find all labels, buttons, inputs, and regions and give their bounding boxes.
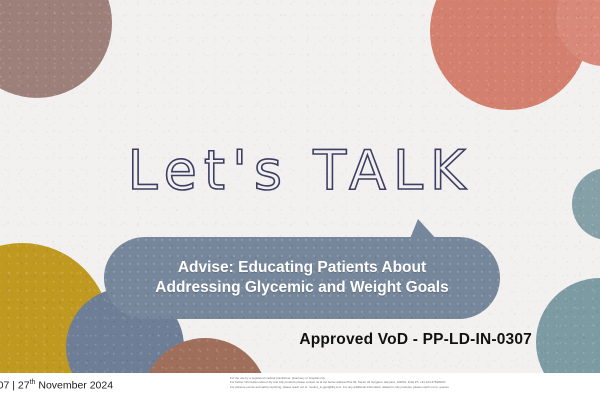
blob-mauve-top-left: [0, 0, 112, 98]
slide-canvas: Let's TALK Advise: Educating Patients Ab…: [0, 0, 600, 400]
footer-disclaimer: For the use by a registered medical prac…: [230, 376, 598, 390]
approval-code-label: Approved VoD - PP-LD-IN-0307: [299, 331, 532, 349]
disclaimer-line-3: For adverse events and safety reporting,…: [230, 385, 598, 390]
footer-date-prefix: 0307 | 27: [0, 380, 30, 392]
bubble-line-1: Advise: Educating Patients About: [178, 259, 426, 276]
footer-date-suffix: November 2024: [35, 380, 113, 392]
speech-bubble-text: Advise: Educating Patients About Address…: [141, 258, 462, 298]
speech-bubble-body: Advise: Educating Patients About Address…: [104, 237, 500, 319]
page-title: Let's TALK: [0, 144, 600, 198]
footer-bar: 0307 | 27th November 2024 For the use by…: [0, 373, 600, 400]
footer-date-label: 0307 | 27th November 2024: [0, 379, 113, 392]
bubble-line-2: Addressing Glycemic and Weight Goals: [155, 279, 448, 296]
